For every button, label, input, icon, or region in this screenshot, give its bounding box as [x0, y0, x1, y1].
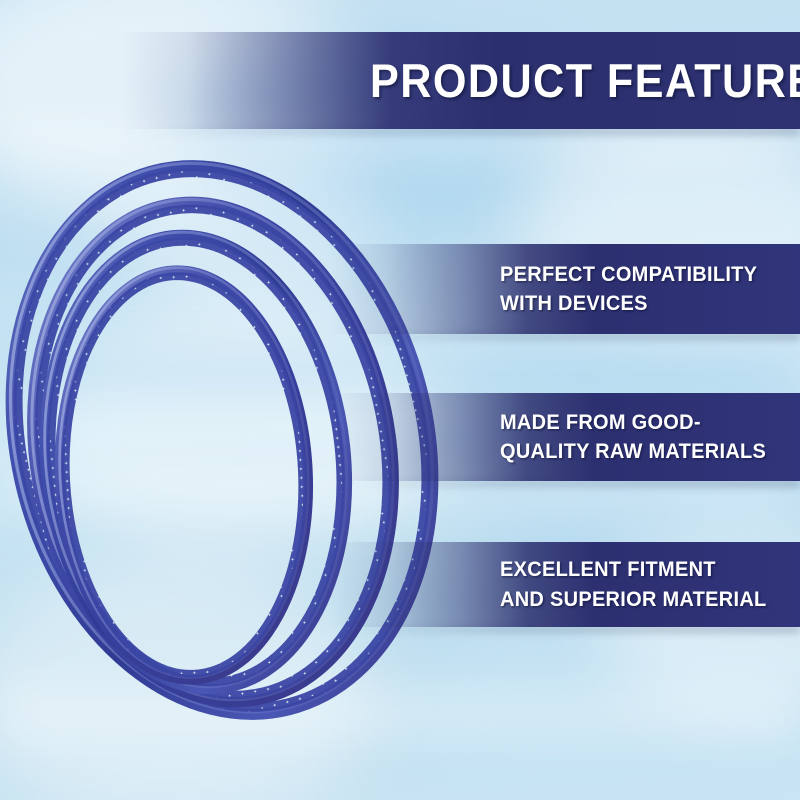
band-shadow [345, 480, 800, 487]
feature-line-1: PERFECT COMPATIBILITY [500, 260, 757, 289]
feature-text: EXCELLENT FITMENT AND SUPERIOR MATERIAL [500, 555, 767, 613]
feature-banner-excellent-fitment: EXCELLENT FITMENT AND SUPERIOR MATERIAL [330, 542, 800, 627]
feature-text: PERFECT COMPATIBILITY WITH DEVICES [500, 260, 757, 318]
feature-line-1: MADE FROM GOOD- [500, 408, 766, 437]
product-features-infographic: PRODUCT FEATURES PERFECT COMPATIBILITY W… [0, 0, 800, 800]
band-shadow [345, 333, 800, 340]
feature-banner-good-quality-materials: MADE FROM GOOD- QUALITY RAW MATERIALS [330, 393, 800, 481]
band-shadow [345, 626, 800, 633]
page-title: PRODUCT FEATURES [370, 57, 800, 104]
feature-text: MADE FROM GOOD- QUALITY RAW MATERIALS [500, 408, 766, 466]
title-banner: PRODUCT FEATURES [120, 32, 800, 129]
feature-line-2: WITH DEVICES [500, 289, 757, 318]
feature-line-2: QUALITY RAW MATERIALS [500, 437, 766, 466]
feature-line-1: EXCELLENT FITMENT [500, 555, 767, 584]
band-shadow [140, 128, 800, 135]
feature-banner-perfect-compatibility: PERFECT COMPATIBILITY WITH DEVICES [330, 244, 800, 334]
feature-line-2: AND SUPERIOR MATERIAL [500, 585, 767, 614]
